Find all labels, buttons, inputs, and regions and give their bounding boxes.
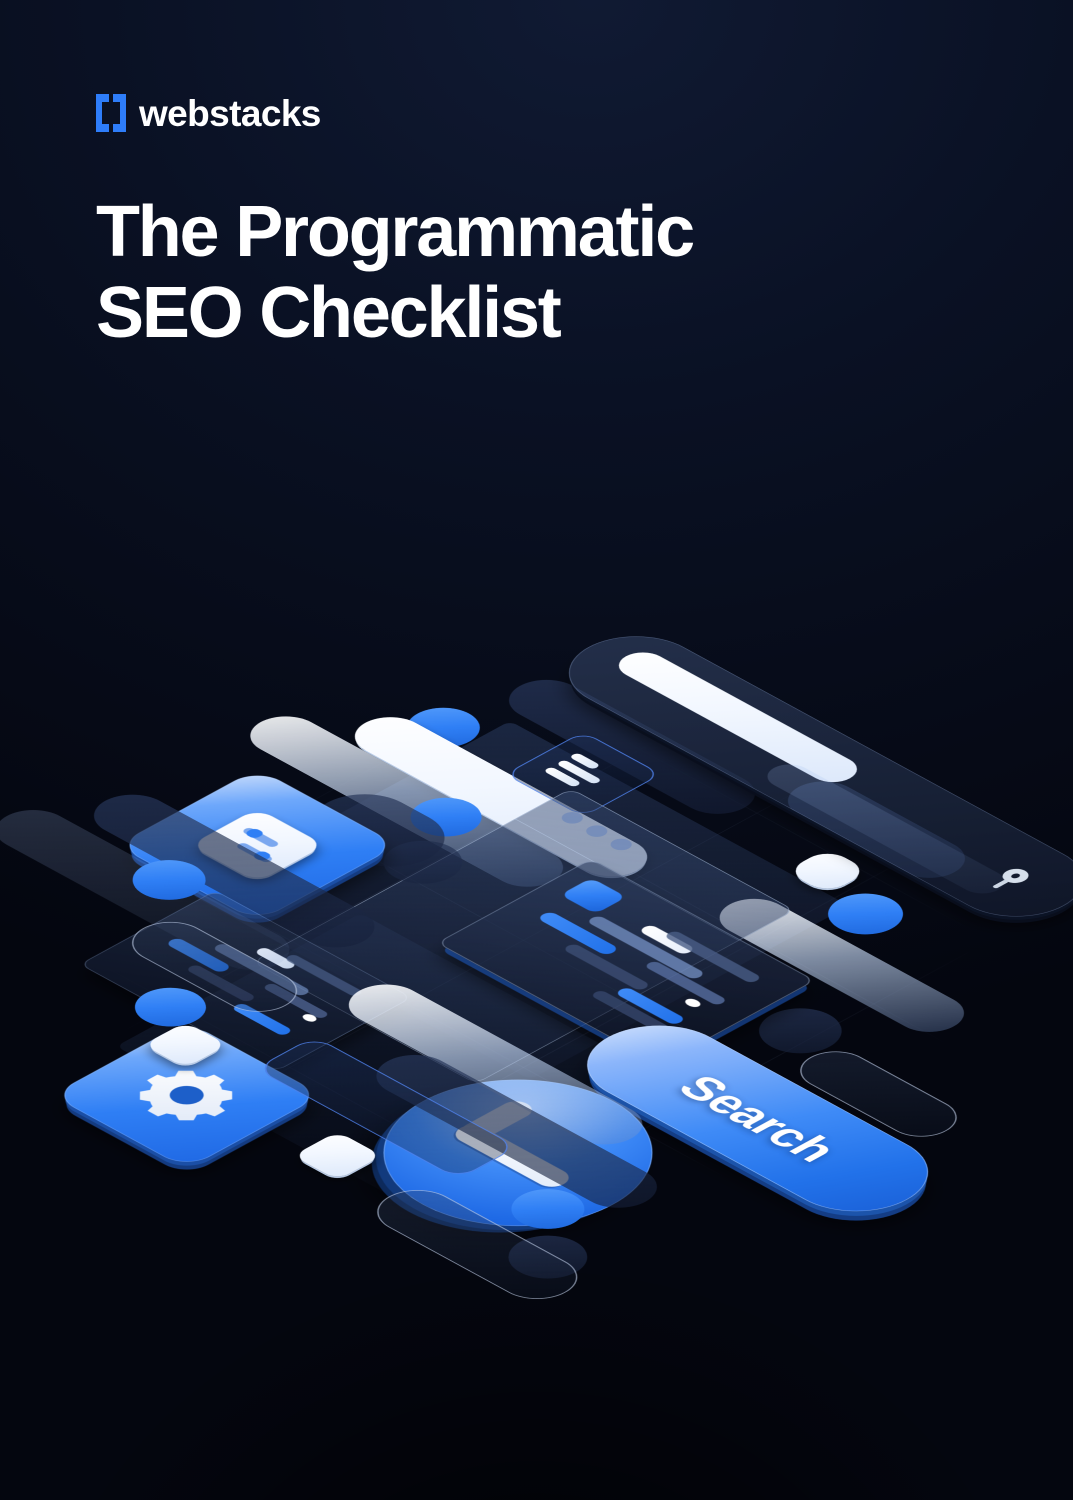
brand-logo[interactable]: webstacks	[96, 92, 956, 134]
bar-chart-icon	[542, 752, 624, 797]
brackets-logo-icon	[96, 94, 126, 132]
sliders-inner-plate	[189, 808, 325, 882]
brand-logo-text: webstacks	[139, 95, 321, 132]
window-controls[interactable]	[557, 810, 636, 853]
isometric-seo-toolkit-illustration: Search	[0, 430, 1073, 1500]
page-title-line-2: SEO Checklist	[96, 273, 856, 354]
cover-header: webstacks The Programmatic SEO Checklist	[96, 92, 956, 353]
cover-page: Search	[0, 0, 1073, 1500]
sliders-icon	[220, 825, 295, 866]
page-title: The Programmatic SEO Checklist	[96, 192, 856, 353]
page-title-line-1: The Programmatic	[96, 192, 856, 273]
window-dot-2	[581, 823, 611, 839]
